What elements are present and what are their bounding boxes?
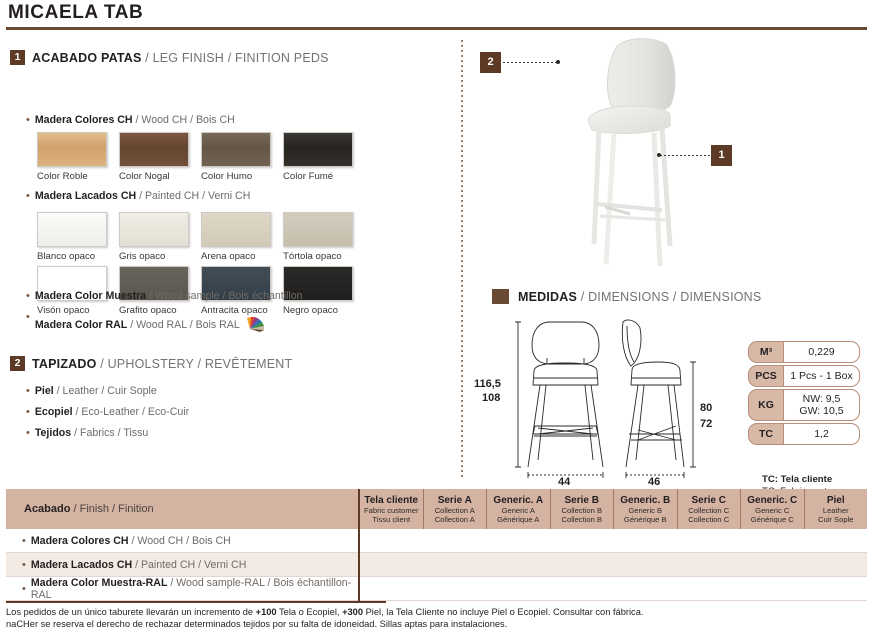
wood-swatch-row: Color Roble Color Nogal Color Humo Color… [37, 132, 353, 182]
callout-point-2 [556, 60, 560, 64]
upholstery-item-tejidos: • Tejidos / Fabrics / Tissu [26, 426, 148, 441]
dim-side-height-1: 80 [700, 402, 712, 414]
spec-key: TC [748, 423, 784, 445]
measures-title: MEDIDAS / DIMENSIONS / DIMENSIONS [518, 290, 761, 304]
painted-swatch-row-1: Blanco opaco Gris opaco Arena opaco Tórt… [37, 212, 353, 262]
group-label-wood: • Madera Colores CH / Wood CH / Bois CH [26, 113, 235, 128]
color-chip [119, 212, 189, 247]
table-col-generic-c: Generic. C Generic C Générique C [741, 489, 805, 529]
upholstery-item-ecopiel: • Ecopiel / Eco-Leather / Eco-Cuir [26, 405, 189, 420]
spec-row: KG NW: 9,5 GW: 10,5 [748, 389, 860, 421]
bullet-dot-icon: • [26, 310, 30, 324]
title-divider [6, 27, 867, 30]
swatch-item[interactable]: Gris opaco [119, 212, 189, 262]
left-column: 1 ACABADO PATAS / LEG FINISH / FINITION … [0, 34, 452, 478]
color-chip [283, 132, 353, 167]
table-header-row: Acabado / Finish / Finition Tela cliente… [6, 489, 867, 529]
spec-value-gw: GW: 10,5 [799, 405, 843, 417]
table-header-acabado: Acabado / Finish / Finition [6, 489, 360, 529]
dim-side-height-2: 72 [700, 418, 712, 430]
table-row: • Madera Colores CH / Wood CH / Bois CH [6, 529, 867, 553]
bullet-dot-icon: • [26, 113, 30, 127]
spec-value-nw: NW: 9,5 [803, 393, 841, 405]
table-body: • Madera Colores CH / Wood CH / Bois CH … [6, 529, 867, 603]
swatch-label: Color Fumé [283, 171, 353, 182]
product-photo [570, 34, 780, 284]
table-col-serie-a: Serie A Collection A Collection A [424, 489, 488, 529]
bullet-dot-icon: • [22, 535, 26, 547]
measures-header: MEDIDAS / DIMENSIONS / DIMENSIONS [492, 289, 761, 304]
callout-leader-2 [503, 62, 557, 63]
table-col-generic-b: Generic. B Generic B Générique B [614, 489, 678, 529]
dimension-drawings: 116,5 108 44 80 72 46 [488, 312, 728, 482]
section-number-2: 2 [10, 356, 25, 371]
spec-value: NW: 9,5 GW: 10,5 [784, 389, 860, 421]
bullet-dot-icon: • [26, 189, 30, 203]
swatch-item[interactable]: Color Fumé [283, 132, 353, 182]
table-col-serie-b: Serie B Collection B Collection B [551, 489, 615, 529]
right-column: 2 1 MEDIDAS / DIMENSIONS / DIMENSIONS [470, 34, 873, 478]
packaging-spec-table: M³ 0,229 PCS 1 Pcs - 1 Box KG NW: 9,5 GW… [748, 341, 860, 447]
table-col-piel: Piel Leather Cuir Sople [805, 489, 868, 529]
swatch-label: Color Humo [201, 171, 271, 182]
swatch-item[interactable]: Color Roble [37, 132, 107, 182]
callout-marker-2[interactable]: 2 [480, 52, 501, 73]
vertical-divider [461, 40, 463, 480]
swatch-label: Arena opaco [201, 251, 271, 262]
swatch-label: Blanco opaco [37, 251, 107, 262]
bullet-dot-icon: • [26, 384, 30, 398]
upholstery-item-piel: • Piel / Leather / Cuir Sople [26, 384, 157, 399]
section-header-upholstery: 2 TAPIZADO / UPHOLSTERY / REVÊTEMENT [10, 356, 292, 371]
dim-side-width: 46 [648, 476, 660, 488]
color-chip [119, 132, 189, 167]
swatch-item[interactable]: Blanco opaco [37, 212, 107, 262]
swatch-label: Color Roble [37, 171, 107, 182]
section-title-leg-finish: ACABADO PATAS / LEG FINISH / FINITION PE… [32, 51, 329, 65]
section-number-1: 1 [10, 50, 25, 65]
table-row-label: • Madera Colores CH / Wood CH / Bois CH [6, 529, 360, 553]
bullet-dot-icon: • [26, 405, 30, 419]
dim-front-height-1: 116,5 [474, 378, 501, 390]
measures-marker-icon [492, 289, 509, 304]
color-chip [283, 212, 353, 247]
swatch-item[interactable]: Color Nogal [119, 132, 189, 182]
bullet-dot-icon: • [26, 289, 30, 303]
spec-sheet-page: MICAELA TAB 1 ACABADO PATAS / LEG FINISH… [0, 0, 873, 640]
spec-key: PCS [748, 365, 784, 387]
dim-front-width: 44 [558, 476, 570, 488]
swatch-label: Negro opaco [283, 305, 353, 316]
swatch-item[interactable]: Tórtola opaco [283, 212, 353, 262]
spec-value: 0,229 [784, 341, 860, 363]
color-chip [201, 212, 271, 247]
color-chip [37, 132, 107, 167]
spec-row: PCS 1 Pcs - 1 Box [748, 365, 860, 387]
swatch-item[interactable]: Arena opaco [201, 212, 271, 262]
swatch-label: Gris opaco [119, 251, 189, 262]
table-row: • Madera Color Muestra-RAL / Wood sample… [6, 577, 867, 601]
table-row-label: • Madera Lacados CH / Painted CH / Verni… [6, 553, 360, 577]
callout-leader-1 [660, 155, 712, 156]
section-header-leg-finish: 1 ACABADO PATAS / LEG FINISH / FINITION … [10, 50, 329, 65]
table-bottom-rule [6, 601, 386, 603]
section-title-upholstery: TAPIZADO / UPHOLSTERY / REVÊTEMENT [32, 357, 292, 371]
footnote-line-2: naCHer se reserva el derecho de rechazar… [6, 618, 868, 630]
footnote: Los pedidos de un único taburete llevará… [6, 606, 868, 630]
group-label-wood-ral: • Madera Color RAL / Wood RAL / Bois RAL [26, 310, 268, 333]
page-title: MICAELA TAB [8, 2, 143, 24]
spec-key: M³ [748, 341, 784, 363]
spec-value: 1,2 [784, 423, 860, 445]
spec-key: KG [748, 389, 784, 421]
bullet-dot-icon: • [22, 559, 26, 571]
swatch-label: Color Nogal [119, 171, 189, 182]
swatch-item[interactable]: Color Humo [201, 132, 271, 182]
ral-fan-icon [246, 314, 268, 332]
table-col-generic-a: Generic. A Generic A Générique A [487, 489, 551, 529]
footnote-line-1: Los pedidos de un único taburete llevará… [6, 606, 868, 618]
bullet-dot-icon: • [22, 583, 26, 595]
bullet-dot-icon: • [26, 426, 30, 440]
table-row: • Madera Lacados CH / Painted CH / Verni… [6, 553, 867, 577]
finish-matrix-table: Acabado / Finish / Finition Tela cliente… [6, 489, 867, 603]
table-row-label: • Madera Color Muestra-RAL / Wood sample… [6, 577, 360, 601]
group-label-wood-sample: • Madera Color Muestra / Wood sample / B… [26, 289, 303, 304]
spec-row: M³ 0,229 [748, 341, 860, 363]
dim-front-height-2: 108 [482, 392, 500, 404]
color-chip [201, 132, 271, 167]
callout-marker-1[interactable]: 1 [711, 145, 732, 166]
tc-legend-es: TC: Tela cliente [762, 474, 849, 486]
callout-point-1 [657, 153, 661, 157]
spec-row: TC 1,2 [748, 423, 860, 445]
swatch-label: Tórtola opaco [283, 251, 353, 262]
table-col-tela-cliente: Tela cliente Fabric customer Tissu clien… [360, 489, 424, 529]
group-label-painted: • Madera Lacados CH / Painted CH / Verni… [26, 189, 250, 204]
table-col-serie-c: Serie C Collection C Collection C [678, 489, 742, 529]
spec-value: 1 Pcs - 1 Box [784, 365, 860, 387]
color-chip [37, 212, 107, 247]
